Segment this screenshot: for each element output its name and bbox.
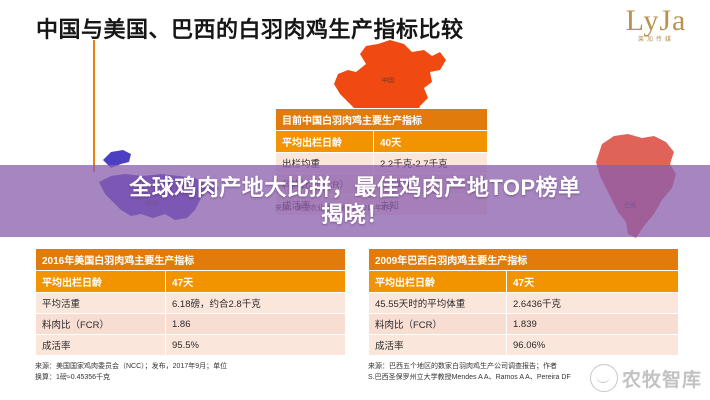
- brand-subtitle: 莱加传媒: [610, 34, 702, 43]
- row-label: 料肉比（FCR）: [36, 314, 166, 335]
- table-row: 平均出栏日龄 47天: [36, 271, 346, 293]
- headline-banner: 全球鸡肉产地大比拼，最佳鸡肉产地TOP榜单 揭晓！: [0, 165, 710, 237]
- china-sub-label: 平均出栏日龄: [276, 131, 374, 153]
- row-label: 料肉比（FCR）: [369, 314, 507, 335]
- brand-name: LyJa: [610, 6, 702, 36]
- table-row: 45.55天时的平均体重 2.6436千克: [369, 293, 679, 314]
- row-value: 1.86: [166, 314, 346, 335]
- table-row: 2016年美国白羽肉鸡主要生产指标: [36, 249, 346, 271]
- headline-text: 全球鸡肉产地大比拼，最佳鸡肉产地TOP榜单 揭晓！: [129, 174, 580, 229]
- row-value: 6.18磅，约合2.8千克: [166, 293, 346, 314]
- row-label: 45.55天时的平均体重: [369, 293, 507, 314]
- table-row: 成活率 96.06%: [369, 335, 679, 356]
- china-map-label: 中国: [382, 76, 394, 85]
- row-label: 平均活重: [36, 293, 166, 314]
- brazil-source-note: 来源：巴西五个地区的数家白羽肉鸡生产公司调查报告；作者 S.巴西圣保罗州立大学教…: [368, 362, 698, 383]
- brand-logo: LyJa 莱加传媒: [610, 6, 702, 48]
- row-label: 成活率: [36, 335, 166, 356]
- table-row: 2009年巴西白羽肉鸡主要生产指标: [369, 249, 679, 271]
- brazil-sub-value: 47天: [507, 271, 679, 293]
- table-row: 料肉比（FCR） 1.86: [36, 314, 346, 335]
- china-table-header: 目前中国白羽肉鸡主要生产指标: [276, 109, 488, 131]
- usa-table-header: 2016年美国白羽肉鸡主要生产指标: [36, 249, 346, 271]
- usa-source-note: 来源：美国国家鸡肉委员会（NCC）；发布，2017年9月；单位 换算：1磅≈0.…: [35, 362, 355, 383]
- headline-line-2: 揭晓！: [129, 201, 580, 229]
- usa-sub-value: 47天: [166, 271, 346, 293]
- table-row: 平均活重 6.18磅，约合2.8千克: [36, 293, 346, 314]
- table-row: 料肉比（FCR） 1.839: [369, 314, 679, 335]
- slide-canvas: 中国与美国、巴西的白羽肉鸡生产指标比较 LyJa 莱加传媒 中国 美国 巴西 目…: [0, 0, 710, 400]
- headline-line-1: 全球鸡肉产地大比拼，最佳鸡肉产地TOP榜单: [129, 174, 580, 202]
- row-label: 成活率: [369, 335, 507, 356]
- china-sub-value: 40天: [374, 131, 488, 153]
- row-value: 1.839: [507, 314, 679, 335]
- row-value: 96.06%: [507, 335, 679, 356]
- row-value: 2.6436千克: [507, 293, 679, 314]
- brazil-table-header: 2009年巴西白羽肉鸡主要生产指标: [369, 249, 679, 271]
- table-row: 平均出栏日龄 47天: [369, 271, 679, 293]
- brazil-indicator-table: 2009年巴西白羽肉鸡主要生产指标 平均出栏日龄 47天 45.55天时的平均体…: [368, 248, 679, 356]
- table-row: 平均出栏日龄 40天: [276, 131, 488, 153]
- table-row: 目前中国白羽肉鸡主要生产指标: [276, 109, 488, 131]
- usa-indicator-table: 2016年美国白羽肉鸡主要生产指标 平均出栏日龄 47天 平均活重 6.18磅，…: [35, 248, 346, 356]
- usa-sub-label: 平均出栏日龄: [36, 271, 166, 293]
- brazil-sub-label: 平均出栏日龄: [369, 271, 507, 293]
- table-row: 成活率 95.5%: [36, 335, 346, 356]
- row-value: 95.5%: [166, 335, 346, 356]
